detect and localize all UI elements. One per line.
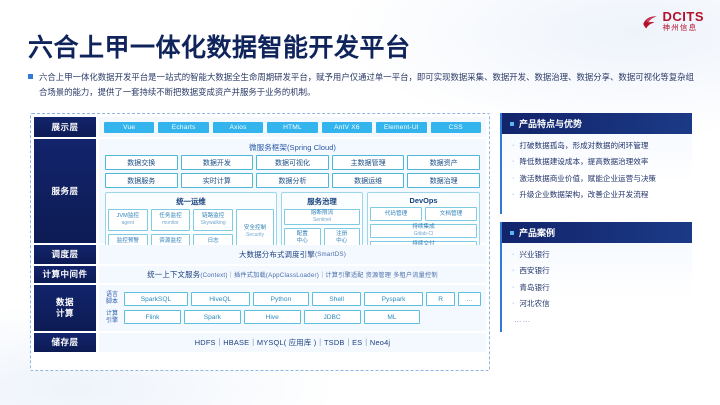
ops-cell-sub: agent [122,220,135,226]
layer-label-compute-line2: 计算 [56,308,74,319]
bullet-dot-icon: · [512,141,514,150]
storage-body: HDFS｜HBASE｜MYSQL( 应用库 )｜TSDB｜ES｜Neo4j [99,333,486,352]
compute-side-labels: 语言 脚本 计算 引擎 [104,285,120,331]
list-item: · 打破数据孤岛，形成对数据的闭环管理 [512,141,682,151]
layer-middleware: 计算中间件 统一上下文服务 (Context)｜插件式加载 (AppClassL… [34,266,486,283]
tech-tag[interactable]: Echarts [158,122,208,133]
list-item-label: 青岛银行 [519,283,549,293]
service-module[interactable]: 主数据管理 [332,155,405,170]
bullet-dot-icon: · [512,174,514,183]
ops-cell-name: 日志 [208,238,219,245]
tech-tag[interactable]: AntV X6 [322,122,372,133]
scheduler-body: 大数据分布式调度引擎 (SmartDS) [99,245,486,264]
compute-languages-row: SparkSQL HiveQL Python Shell Pyspark R … [124,292,481,306]
bullet-dot-icon: · [512,283,514,292]
service-module[interactable]: 数据交换 [105,155,178,170]
list-item-label: 河北农信 [519,299,549,309]
scheduler-text-row: 大数据分布式调度引擎 (SmartDS) [99,245,486,264]
devops-cell-name: 持续集成 [412,224,434,231]
compute-tag[interactable]: Shell [312,292,361,306]
list-item: · 升级企业数据架构，改善企业开发流程 [512,190,682,200]
card-header-cases: 产品案例 [502,222,692,243]
card-advantages: 产品特点与优势 · 打破数据孤岛，形成对数据的闭环管理 · 降低数据建设成本，提… [500,113,692,214]
list-item: · 兴业银行 [512,250,682,260]
scheduler-text: 大数据分布式调度引擎 [239,249,315,260]
service-modules-row-2: 数据服务 实时计算 数据分析 数据运维 数据治理 [99,173,486,188]
governance-cell-name: 熔断限流 [311,210,333,217]
service-module[interactable]: 数据开发 [181,155,254,170]
devops-cell-code[interactable]: 代码管理 [370,207,422,221]
compute-tag[interactable]: HiveQL [191,292,250,306]
compute-tag[interactable]: Pyspark [364,292,423,306]
ops-cell-name: 任务监控 [159,213,181,220]
compute-engines-row: Flink Spark Hive JDBC ML [124,310,481,324]
ops-cell-sub: Skywalking [201,220,226,226]
page-title: 六合上甲一体化数据智能开发平台 [28,28,411,64]
compute-rows: SparkSQL HiveQL Python Shell Pyspark R …… [124,292,481,324]
layer-label-scheduler: 调度层 [34,245,96,264]
devops-cell-name: 代码管理 [385,211,407,218]
pane-title-governance: 服务治理 [284,195,360,209]
logo-cn-text: 神州信息 [663,24,705,32]
logo-en-text: DCITS [663,10,705,23]
devops-cell-doc[interactable]: 文档管理 [425,207,477,221]
service-module[interactable]: 数据治理 [407,173,480,188]
service-body: 微服务框架(Spring Cloud) 数据交换 数据开发 数据可视化 主数据管… [99,139,486,243]
layer-label-middleware: 计算中间件 [34,266,96,283]
devops-cell-name: 文档管理 [440,211,462,218]
devops-cell-ci[interactable]: 持续集成 Gitlab-CI [370,224,477,238]
card-header-advantages: 产品特点与优势 [502,113,692,134]
service-module[interactable]: 实时计算 [181,173,254,188]
presentation-body: Vue Echarts Axios HTML AntV X6 Element-U… [99,117,486,137]
service-module[interactable]: 数据资产 [407,155,480,170]
devops-cell-sub: Gitlab-CI [414,231,434,237]
bullet-square-icon [28,74,33,79]
ops-cell-sub: monitor [162,220,179,226]
list-item-label: 激活数据商业价值，赋能企业运营与决策 [519,174,656,184]
presentation-tags: Vue Echarts Axios HTML AntV X6 Element-U… [99,117,486,137]
service-module[interactable]: 数据服务 [105,173,178,188]
service-module[interactable]: 数据运维 [332,173,405,188]
intro-paragraph: 六合上甲一体化数据开发平台是一站式的智能大数据全生命周期研发平台，赋予用户仅通过… [39,70,694,99]
bullet-dot-icon: · [512,299,514,308]
list-item: · 青岛银行 [512,283,682,293]
slide-canvas: DCITS 神州信息 六合上甲一体化数据智能开发平台 六合上甲一体化数据开发平台… [0,0,720,405]
devops-top-row: 代码管理 文档管理 [370,207,477,221]
bullet-dot-icon: · [512,157,514,166]
tech-tag[interactable]: Element-UI [376,122,426,133]
intro-block: 六合上甲一体化数据开发平台是一站式的智能大数据全生命周期研发平台，赋予用户仅通过… [28,70,694,99]
bullet-square-icon [510,122,514,126]
layer-label-service: 服务层 [34,139,96,243]
card-body-cases: · 兴业银行 · 西安银行 · 青岛银行 · 河北农信 …… [502,243,692,326]
list-item-label: 升级企业数据架构，改善企业开发流程 [519,190,648,200]
bullet-dot-icon: · [512,266,514,275]
card-cases: 产品案例 · 兴业银行 · 西安银行 · 青岛银行 · 河北农信 [500,222,692,332]
cases-more-ellipsis: …… [512,315,682,324]
service-module[interactable]: 数据可视化 [256,155,329,170]
compute-tag[interactable]: ML [364,310,421,324]
tech-tag[interactable]: HTML [267,122,317,133]
governance-cell-sentinel[interactable]: 熔断限流 Sentinel [284,209,360,225]
layer-service: 服务层 微服务框架(Spring Cloud) 数据交换 数据开发 数据可视化 … [34,139,486,243]
list-item: · 西安银行 [512,266,682,276]
compute-side-label-1: 语言 [104,292,120,299]
layer-label-storage: 储存层 [34,333,96,352]
layer-scheduler: 调度层 大数据分布式调度引擎 (SmartDS) [34,245,486,264]
ops-cell-name: JVM监控 [117,213,139,220]
service-module[interactable]: 数据分析 [256,173,329,188]
compute-side-label-3: 计算 [104,311,120,318]
middleware-body: 统一上下文服务 (Context)｜插件式加载 (AppClassLoader)… [99,266,486,283]
layer-presentation: 展示层 Vue Echarts Axios HTML AntV X6 Eleme… [34,117,486,137]
compute-body: 语言 脚本 计算 引擎 SparkSQL HiveQL Python [99,285,486,331]
compute-side-label-4: 引擎 [104,318,120,325]
compute-tag[interactable]: JDBC [304,310,361,324]
layer-label-compute: 数据 计算 [34,285,96,331]
ops-cell-name: 资源监控 [159,238,181,245]
service-modules-row-1: 数据交换 数据开发 数据可视化 主数据管理 数据资产 [99,155,486,170]
bullet-square-icon [510,231,514,235]
pane-title-devops: DevOps [370,195,477,207]
middleware-text: 统一上下文服务 [147,269,200,280]
tech-tag[interactable]: CSS [431,122,481,133]
sidebar: 产品特点与优势 · 打破数据孤岛，形成对数据的闭环管理 · 降低数据建设成本，提… [500,113,692,371]
card-title-cases: 产品案例 [519,226,555,239]
list-item: · 河北农信 [512,299,682,309]
tech-tag[interactable]: Vue [104,122,154,133]
ops-cell-name: 链路监控 [202,213,224,220]
ops-cell[interactable]: JVM监控 agent [108,209,148,231]
compute-tag[interactable]: Python [253,292,309,306]
list-item-label: 降低数据建设成本，提高数据治理效率 [519,157,648,167]
card-title-advantages: 产品特点与优势 [519,117,582,130]
compute-tag[interactable]: … [458,292,481,306]
ops-cell[interactable]: 任务监控 monitor [151,209,191,231]
compute-tag[interactable]: Flink [124,310,181,324]
bullet-dot-icon: · [512,190,514,199]
list-item-label: 打破数据孤岛，形成对数据的闭环管理 [519,141,648,151]
list-item-label: 兴业银行 [519,250,549,260]
bullet-dot-icon: · [512,250,514,259]
brand-logo: DCITS 神州信息 [641,10,705,32]
dcits-swoosh-icon [641,12,659,30]
ops-cell[interactable]: 链路监控 Skywalking [193,209,233,231]
layer-label-compute-line1: 数据 [56,297,74,308]
layer-compute: 数据 计算 语言 脚本 计算 引擎 [34,285,486,331]
middleware-text-3: (AppClassLoader)｜计算引擎适配 资源管理 多租户流量控制 [266,270,438,279]
spring-cloud-title: 微服务框架(Spring Cloud) [99,139,486,155]
compute-tag[interactable]: R [426,292,455,306]
ops-cell-name: 监控预警 [117,238,139,245]
pane-title-ops: 统一运维 [108,195,274,209]
compute-tag[interactable]: Spark [184,310,241,324]
scheduler-suffix: (SmartDS) [315,251,346,258]
compute-tag[interactable]: Hive [244,310,301,324]
list-item: · 激活数据商业价值，赋能企业运营与决策 [512,174,682,184]
storage-text: HDFS｜HBASE｜MYSQL( 应用库 )｜TSDB｜ES｜Neo4j [99,333,486,352]
list-item: · 降低数据建设成本，提高数据治理效率 [512,157,682,167]
layer-storage: 储存层 HDFS｜HBASE｜MYSQL( 应用库 )｜TSDB｜ES｜Neo4… [34,333,486,352]
ops-cell-sub: Security [246,232,264,238]
layer-label-presentation: 展示层 [34,117,96,137]
compute-side-label-2: 脚本 [104,299,120,306]
architecture-diagram: 展示层 Vue Echarts Axios HTML AntV X6 Eleme… [30,113,490,371]
compute-tag[interactable]: SparkSQL [124,292,188,306]
card-body-advantages: · 打破数据孤岛，形成对数据的闭环管理 · 降低数据建设成本，提高数据治理效率 … [502,134,692,208]
middleware-text-row: 统一上下文服务 (Context)｜插件式加载 (AppClassLoader)… [99,266,486,283]
ops-cell-name: 安全控制 [244,225,266,232]
tech-tag[interactable]: Axios [213,122,263,133]
middleware-text-2: (Context)｜插件式加载 [200,270,266,279]
list-item-label: 西安银行 [519,266,549,276]
governance-cell-sub: Sentinel [313,217,331,223]
compute-wrap: 语言 脚本 计算 引擎 SparkSQL HiveQL Python [99,285,486,331]
